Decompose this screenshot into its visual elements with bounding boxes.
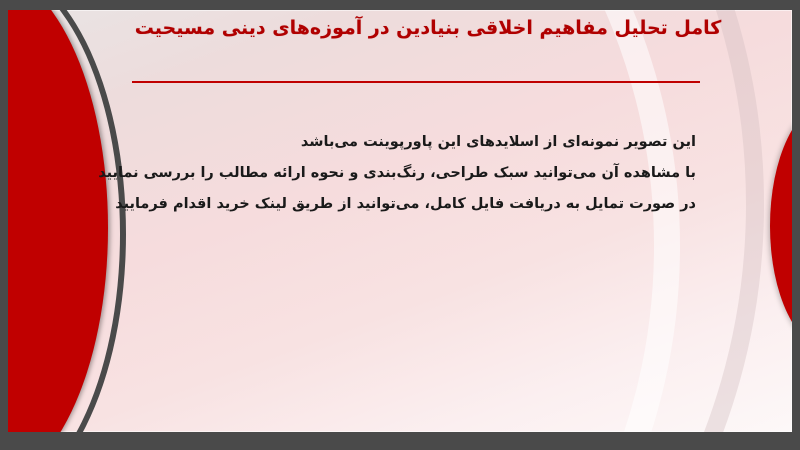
- title-underline-rule: [132, 81, 700, 83]
- slide-body-block: این تصویر نمونه‌ای از اسلایدهای این پاور…: [96, 132, 696, 215]
- right-red-ellipse-decoration: [770, 102, 792, 350]
- slide-title-block: کامل تحلیل مفاهیم اخلاقی بنیادین در آموز…: [128, 16, 728, 40]
- body-line-3: در صورت تمایل به دریافت فایل کامل، می‌تو…: [96, 194, 696, 216]
- presentation-slide: کامل تحلیل مفاهیم اخلاقی بنیادین در آموز…: [0, 0, 800, 450]
- body-line-2: با مشاهده آن می‌توانید سبک طراحی، رنگ‌بن…: [96, 163, 696, 185]
- slide-title: کامل تحلیل مفاهیم اخلاقی بنیادین در آموز…: [128, 16, 728, 40]
- slide-content-panel: کامل تحلیل مفاهیم اخلاقی بنیادین در آموز…: [8, 10, 792, 432]
- left-arc-outline-decoration: [8, 10, 126, 432]
- body-line-1: این تصویر نمونه‌ای از اسلایدهای این پاور…: [96, 132, 696, 154]
